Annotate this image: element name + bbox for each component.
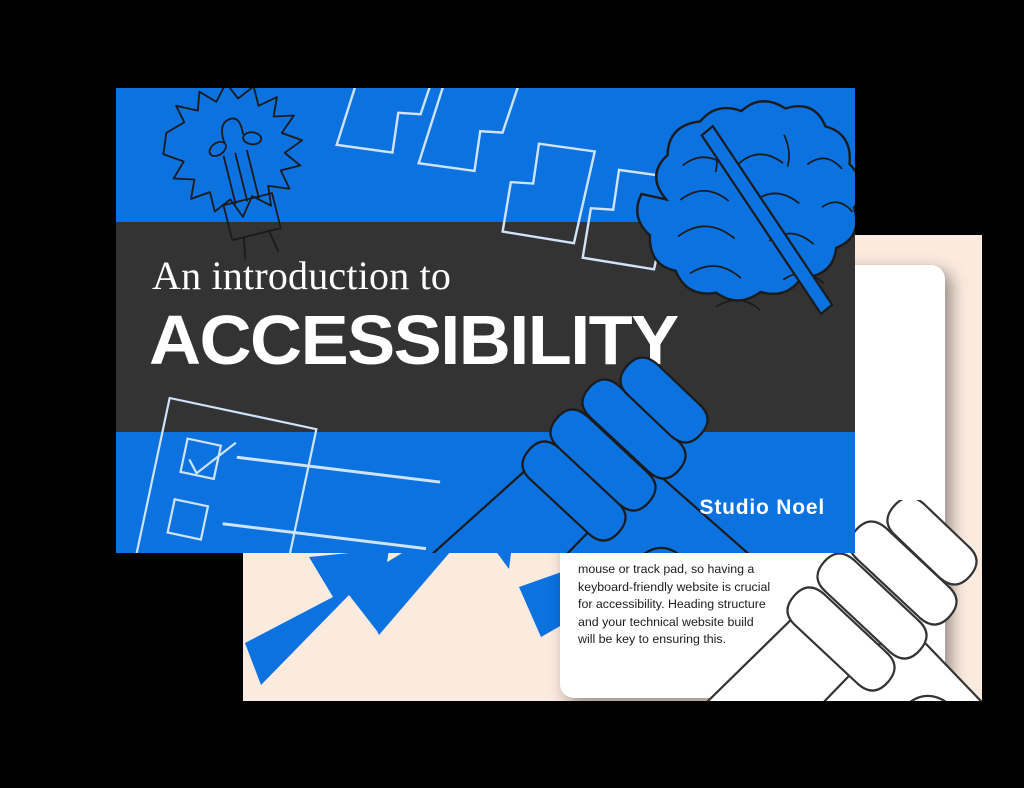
lightbulb-icon bbox=[136, 88, 346, 262]
clasped-hands-icon bbox=[441, 368, 761, 553]
brand-label: Studio Noel bbox=[700, 496, 825, 520]
screenshot-canvas: aren't making r putting the e other pers… bbox=[0, 0, 1024, 788]
page-title: ACCESSIBILITY bbox=[149, 302, 678, 378]
checklist-icon bbox=[134, 426, 454, 553]
title-slide[interactable]: An introduction to ACCESSIBILITY bbox=[116, 88, 855, 553]
quotation-marks-icon bbox=[321, 88, 641, 228]
slide-subtitle: An introduction to bbox=[152, 254, 451, 298]
